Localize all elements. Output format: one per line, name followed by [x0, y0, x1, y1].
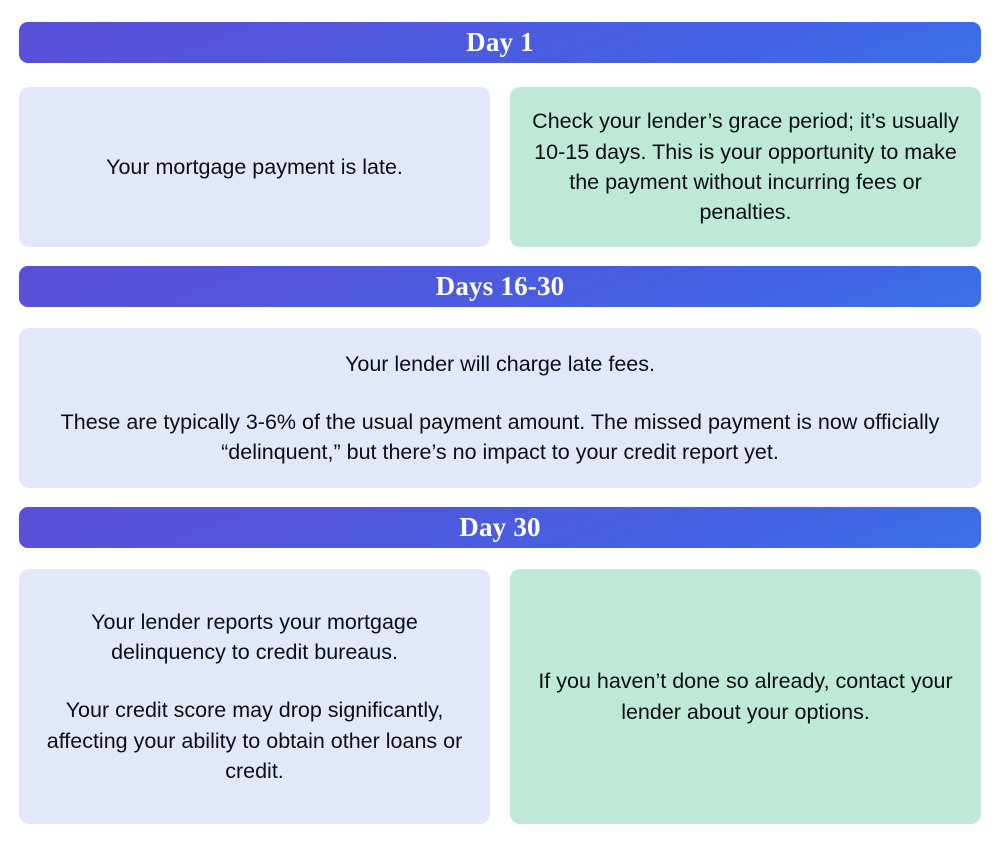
stage-2-card-event: Your lender will charge late fees. These…: [19, 328, 981, 488]
stage-3-card-event-detail: Your credit score may drop significantly…: [41, 695, 468, 786]
stage-row-days-16-30: Your lender will charge late fees. These…: [19, 328, 981, 488]
stage-2-card-event-detail: These are typically 3-6% of the usual pa…: [41, 407, 959, 468]
stage-3-card-event-headline: Your lender reports your mortgage delinq…: [41, 607, 468, 668]
stage-header-day-30: Day 30: [19, 507, 981, 548]
infographic-page: Day 1 Your mortgage payment is late. Che…: [0, 0, 1000, 845]
stage-row-day-30: Your lender reports your mortgage delinq…: [19, 569, 981, 824]
stage-header-day-1: Day 1: [19, 22, 981, 63]
delinquency-timeline: Day 1 Your mortgage payment is late. Che…: [19, 22, 981, 824]
stage-3-card-advice: If you haven’t done so already, contact …: [510, 569, 981, 824]
stage-3-card-advice-text: If you haven’t done so already, contact …: [532, 666, 959, 727]
stage-1-card-event: Your mortgage payment is late.: [19, 87, 490, 247]
stage-header-days-16-30: Days 16-30: [19, 266, 981, 307]
stage-3-card-event: Your lender reports your mortgage delinq…: [19, 569, 490, 824]
stage-1-card-advice: Check your lender’s grace period; it’s u…: [510, 87, 981, 247]
stage-2-card-event-headline: Your lender will charge late fees.: [41, 349, 959, 379]
stage-row-day-1: Your mortgage payment is late. Check you…: [19, 87, 981, 247]
stage-1-card-event-text: Your mortgage payment is late.: [41, 152, 468, 182]
stage-1-card-advice-text: Check your lender’s grace period; it’s u…: [532, 106, 959, 227]
